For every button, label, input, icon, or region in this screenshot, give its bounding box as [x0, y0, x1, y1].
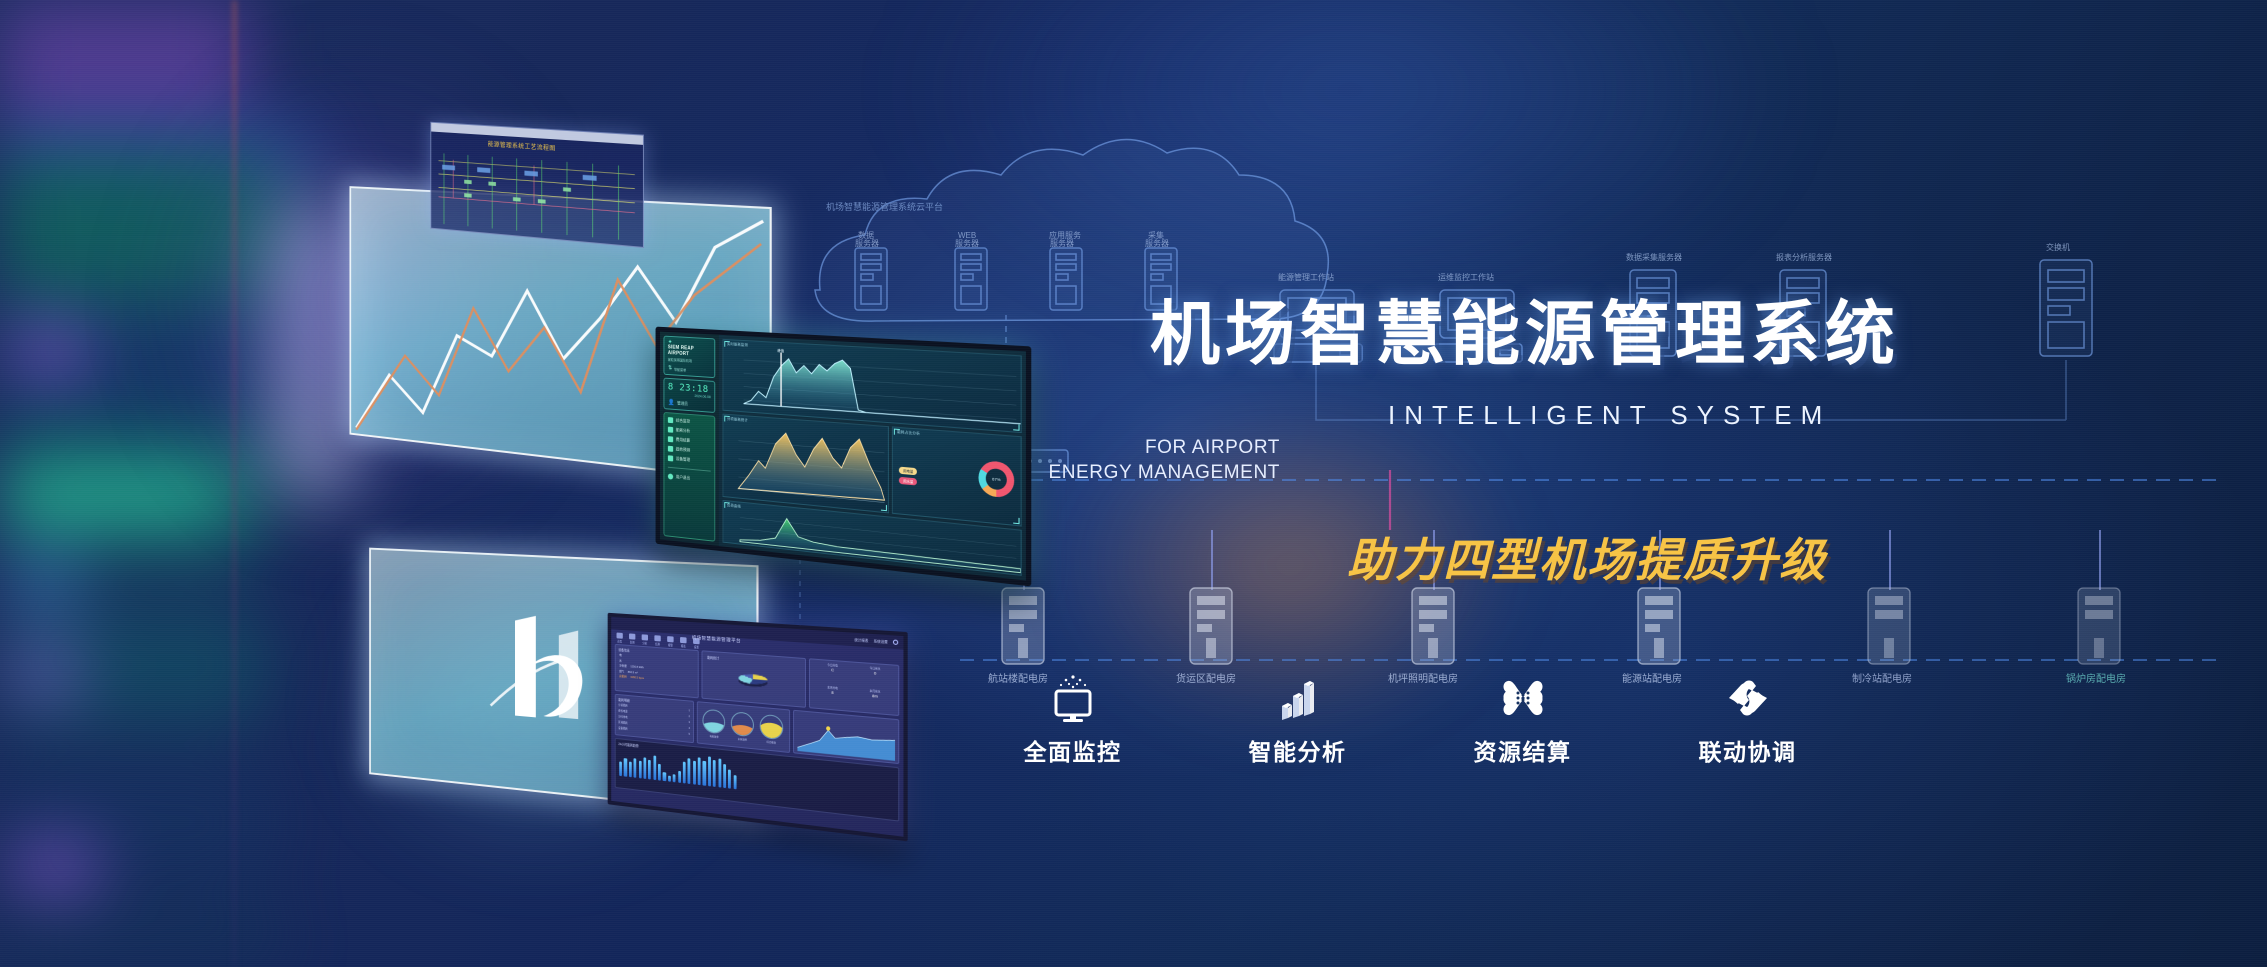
- airport-brand-card: ✦ SIEM REAP AIRPORT 暹粒吴哥国际机场 ⇅ 导航菜单: [663, 336, 715, 379]
- info-k-1: 水: [619, 658, 622, 662]
- pill-power[interactable]: 用电量: [899, 466, 917, 475]
- stat-3: 本月用水8m: [854, 687, 896, 712]
- user-row[interactable]: 👤 管理员: [668, 399, 711, 409]
- info-k-0: 电: [619, 653, 622, 657]
- menu-label-5: 用户退出: [676, 474, 690, 481]
- device-icon: [668, 455, 673, 461]
- menu-divider: [668, 467, 711, 472]
- menu-label-1: 能耗分析: [676, 427, 690, 434]
- nav-label: 导航菜单: [674, 367, 686, 373]
- gauge-2: 综合能效: [759, 714, 782, 745]
- corner-br-2: [881, 505, 887, 512]
- table-cell-2: 分时用电: [618, 714, 627, 719]
- svg-text:服务器: 服务器: [855, 238, 879, 248]
- card-subitem-energy[interactable]: 分项能耗统计: [722, 414, 889, 514]
- dash-table-card[interactable]: 能耗明细 分项能耗1 峰谷电量2 分时用电3 区域能耗4 设备能耗5: [615, 694, 694, 743]
- clock-card: 8 23:18 2024.06.08 👤 管理员: [663, 378, 715, 413]
- bar-chart-icon: [1272, 672, 1324, 724]
- info-k-2: 冷热量: [619, 664, 627, 668]
- energy-platform-dashboard[interactable]: 统计报表 系统设置 机场智慧能源管理平台 首页 监测 分析 结算 报警 报表 设…: [608, 613, 908, 842]
- card-energy-ratio[interactable]: 能耗占比分析 用电量 用水量 67%: [892, 426, 1022, 526]
- stat-0: 今日用电C: [812, 662, 853, 687]
- dash-nav-4[interactable]: 报警: [666, 636, 674, 647]
- dash-nav-0[interactable]: 首页: [616, 632, 624, 643]
- svg-text:锅炉房配电房: 锅炉房配电房: [2066, 672, 2126, 685]
- menu-item-2[interactable]: 费用结算: [668, 436, 711, 445]
- dash-info-card[interactable]: 设备信息 电 水 冷热量1250.8 kWh 燃气860.3 m³ 总能耗328…: [615, 644, 699, 698]
- nav-icon-5: [680, 637, 686, 643]
- dash-nav-label-4: 报警: [668, 643, 673, 647]
- gauge-bowl-1: [731, 711, 754, 737]
- info-v-3: 860.3 m³: [628, 670, 638, 675]
- monitor-main: 实时能耗监测 峰值: [719, 335, 1026, 581]
- menu-label-4: 设备管理: [676, 456, 690, 463]
- dash-nav-3[interactable]: 结算: [653, 635, 661, 646]
- menu-item-4[interactable]: 设备管理: [668, 455, 711, 465]
- corner-br: [1013, 424, 1019, 431]
- feature-label-1: 智能分析: [1249, 733, 1347, 767]
- menu-label-3: 趋势预测: [676, 447, 690, 454]
- dash-trend-card[interactable]: [793, 710, 900, 764]
- chart-icon: [668, 446, 673, 452]
- hero-tagline: 助力四型机场提质升级: [1347, 524, 1827, 590]
- h-logo-mark: [468, 591, 611, 751]
- svg-text:交换机: 交换机: [2046, 242, 2070, 252]
- gauge-label-0: 电能效率: [703, 733, 726, 739]
- hero-banner: .bl{fill:none;stroke:#7aa7f2;stroke-widt…: [0, 0, 2267, 967]
- dash-nav-2[interactable]: 分析: [641, 634, 649, 645]
- dash-stats-title: 能耗统计: [704, 653, 722, 661]
- stat-1: 今日用水0: [854, 665, 896, 690]
- gauge-bowl-0: [703, 709, 726, 735]
- dashboard-header-0[interactable]: 统计报表: [854, 637, 868, 643]
- feature-label-0: 全面监控: [1024, 733, 1122, 767]
- nav-icon-1: [629, 633, 635, 639]
- dash-gauges-card[interactable]: 电能效率 水耗效率 综合能效: [696, 701, 789, 753]
- hero-subtitle: INTELLIGENT SYSTEM: [1388, 400, 1831, 431]
- grid-icon: [668, 427, 673, 433]
- menu-item-1[interactable]: 能耗分析: [668, 427, 711, 436]
- menu-item-0[interactable]: 综合监控: [668, 417, 711, 426]
- feature-label-2: 资源结算: [1474, 733, 1572, 767]
- svg-text:机场智慧能源管理系统云平台: 机场智慧能源管理系统云平台: [826, 201, 943, 212]
- dash-nav-label-3: 结算: [655, 642, 660, 646]
- stat-2: 本月用电8: [812, 684, 853, 709]
- link-coordination-icon: [1722, 672, 1774, 724]
- corner-br-3: [1013, 517, 1019, 524]
- dash-nav-label-6: 设置: [694, 645, 699, 649]
- svg-text:服务器: 服务器: [1145, 238, 1169, 248]
- nav-glyph-icon: ⇅: [668, 365, 672, 372]
- table-cell-1: 峰谷电量: [618, 709, 627, 714]
- dash-pie-card[interactable]: 能耗统计: [701, 650, 806, 708]
- info-k-3: 燃气: [619, 669, 624, 673]
- home-icon: [668, 417, 673, 423]
- dash-nav-label-0: 首页: [617, 639, 622, 643]
- table-cell-0: 分项能耗: [618, 703, 627, 708]
- user-name: 管理员: [677, 400, 688, 407]
- scada-process-window[interactable]: 能源管理系统工艺流程图: [430, 122, 644, 248]
- feature-item-coordination[interactable]: 联动协调: [1635, 672, 1860, 782]
- svg-text:数据采集服务器: 数据采集服务器: [1626, 252, 1682, 262]
- left-bokeh-blur: [0, 0, 360, 967]
- gauge-label-2: 综合能效: [759, 739, 782, 745]
- nav-icon-3: [654, 635, 660, 641]
- dash-nav-5[interactable]: 报表: [679, 637, 687, 648]
- table-cell-3: 区域能耗: [618, 720, 627, 725]
- dash-nav-label-2: 分析: [642, 641, 647, 645]
- feature-item-analysis[interactable]: 智能分析: [1185, 672, 1410, 782]
- left-seam-glow: [232, 0, 237, 967]
- info-k-4: 总能耗: [619, 674, 627, 678]
- gauge-label-1: 水耗效率: [731, 736, 754, 742]
- page-title: 机场智慧能源管理系统: [1150, 278, 1900, 379]
- monitor-icon: [1047, 672, 1099, 724]
- table-cell-4: 设备能耗: [618, 726, 627, 731]
- svg-text:服务器: 服务器: [955, 238, 979, 248]
- nav-icon-0: [617, 633, 623, 639]
- svg-text:报表分析服务器: 报表分析服务器: [1776, 252, 1832, 262]
- feature-item-monitoring[interactable]: 全面监控: [960, 672, 1185, 782]
- gauge-1: 水耗效率: [731, 711, 754, 742]
- power-icon: [668, 474, 673, 480]
- gauge-bowl-2: [759, 714, 782, 740]
- dashboard-header-1[interactable]: 系统设置: [874, 638, 888, 644]
- menu-label-0: 综合监控: [676, 418, 690, 425]
- donut-center-value: 67%: [992, 476, 1000, 482]
- dash-nav-1[interactable]: 监测: [628, 633, 636, 644]
- card-title-2: 能耗占比分析: [897, 430, 920, 437]
- card-icon: [668, 436, 673, 442]
- monitor-sidebar: ✦ SIEM REAP AIRPORT 暹粒吴哥国际机场 ⇅ 导航菜单 8 23…: [660, 332, 719, 546]
- nav-icon-4: [667, 636, 673, 642]
- nav-icon-2: [642, 634, 648, 640]
- pill-water[interactable]: 用水量: [899, 476, 917, 485]
- user-icon: 👤: [668, 399, 675, 406]
- dash-nav-label-1: 监测: [630, 640, 635, 644]
- resource-clover-icon: [1497, 672, 1549, 724]
- hero-subtitle-line2: FOR AIRPORT: [1145, 437, 1280, 459]
- feature-label-3: 联动协调: [1699, 733, 1797, 767]
- dash-nav-label-5: 报表: [681, 644, 686, 648]
- menu-item-5[interactable]: 用户退出: [668, 474, 711, 484]
- energy-donut-chart: 67%: [978, 460, 1014, 499]
- menu-item-3[interactable]: 趋势预测: [668, 446, 711, 455]
- energy-monitor-screen[interactable]: ✦ SIEM REAP AIRPORT 暹粒吴哥国际机场 ⇅ 导航菜单 8 23…: [656, 327, 1032, 587]
- monitor-menu: 综合监控 能耗分析 费用结算 趋势预测 设备管理 用户退出: [663, 412, 715, 542]
- gauge-0: 电能效率: [703, 709, 726, 740]
- menu-label-2: 费用结算: [676, 437, 690, 444]
- dash-pie-chart: [739, 673, 768, 685]
- svg-text:制冷站配电房: 制冷站配电房: [1852, 672, 1912, 685]
- info-v-4: 3280.5 kgce: [630, 675, 644, 680]
- dash-stats-card[interactable]: 今日用电C 今日用水0 本月用电8 本月用水8m: [809, 658, 899, 716]
- svg-text:服务器: 服务器: [1050, 238, 1074, 248]
- feature-list: 全面监控 智能分析: [960, 672, 1860, 782]
- peak-marker-label: 峰值: [777, 347, 784, 352]
- hero-subtitle-line3: ENERGY MANAGEMENT: [1048, 462, 1280, 484]
- feature-item-resource[interactable]: 资源结算: [1410, 672, 1635, 782]
- user-avatar-icon[interactable]: [893, 639, 898, 645]
- info-v-2: 1250.8 kWh: [630, 665, 643, 670]
